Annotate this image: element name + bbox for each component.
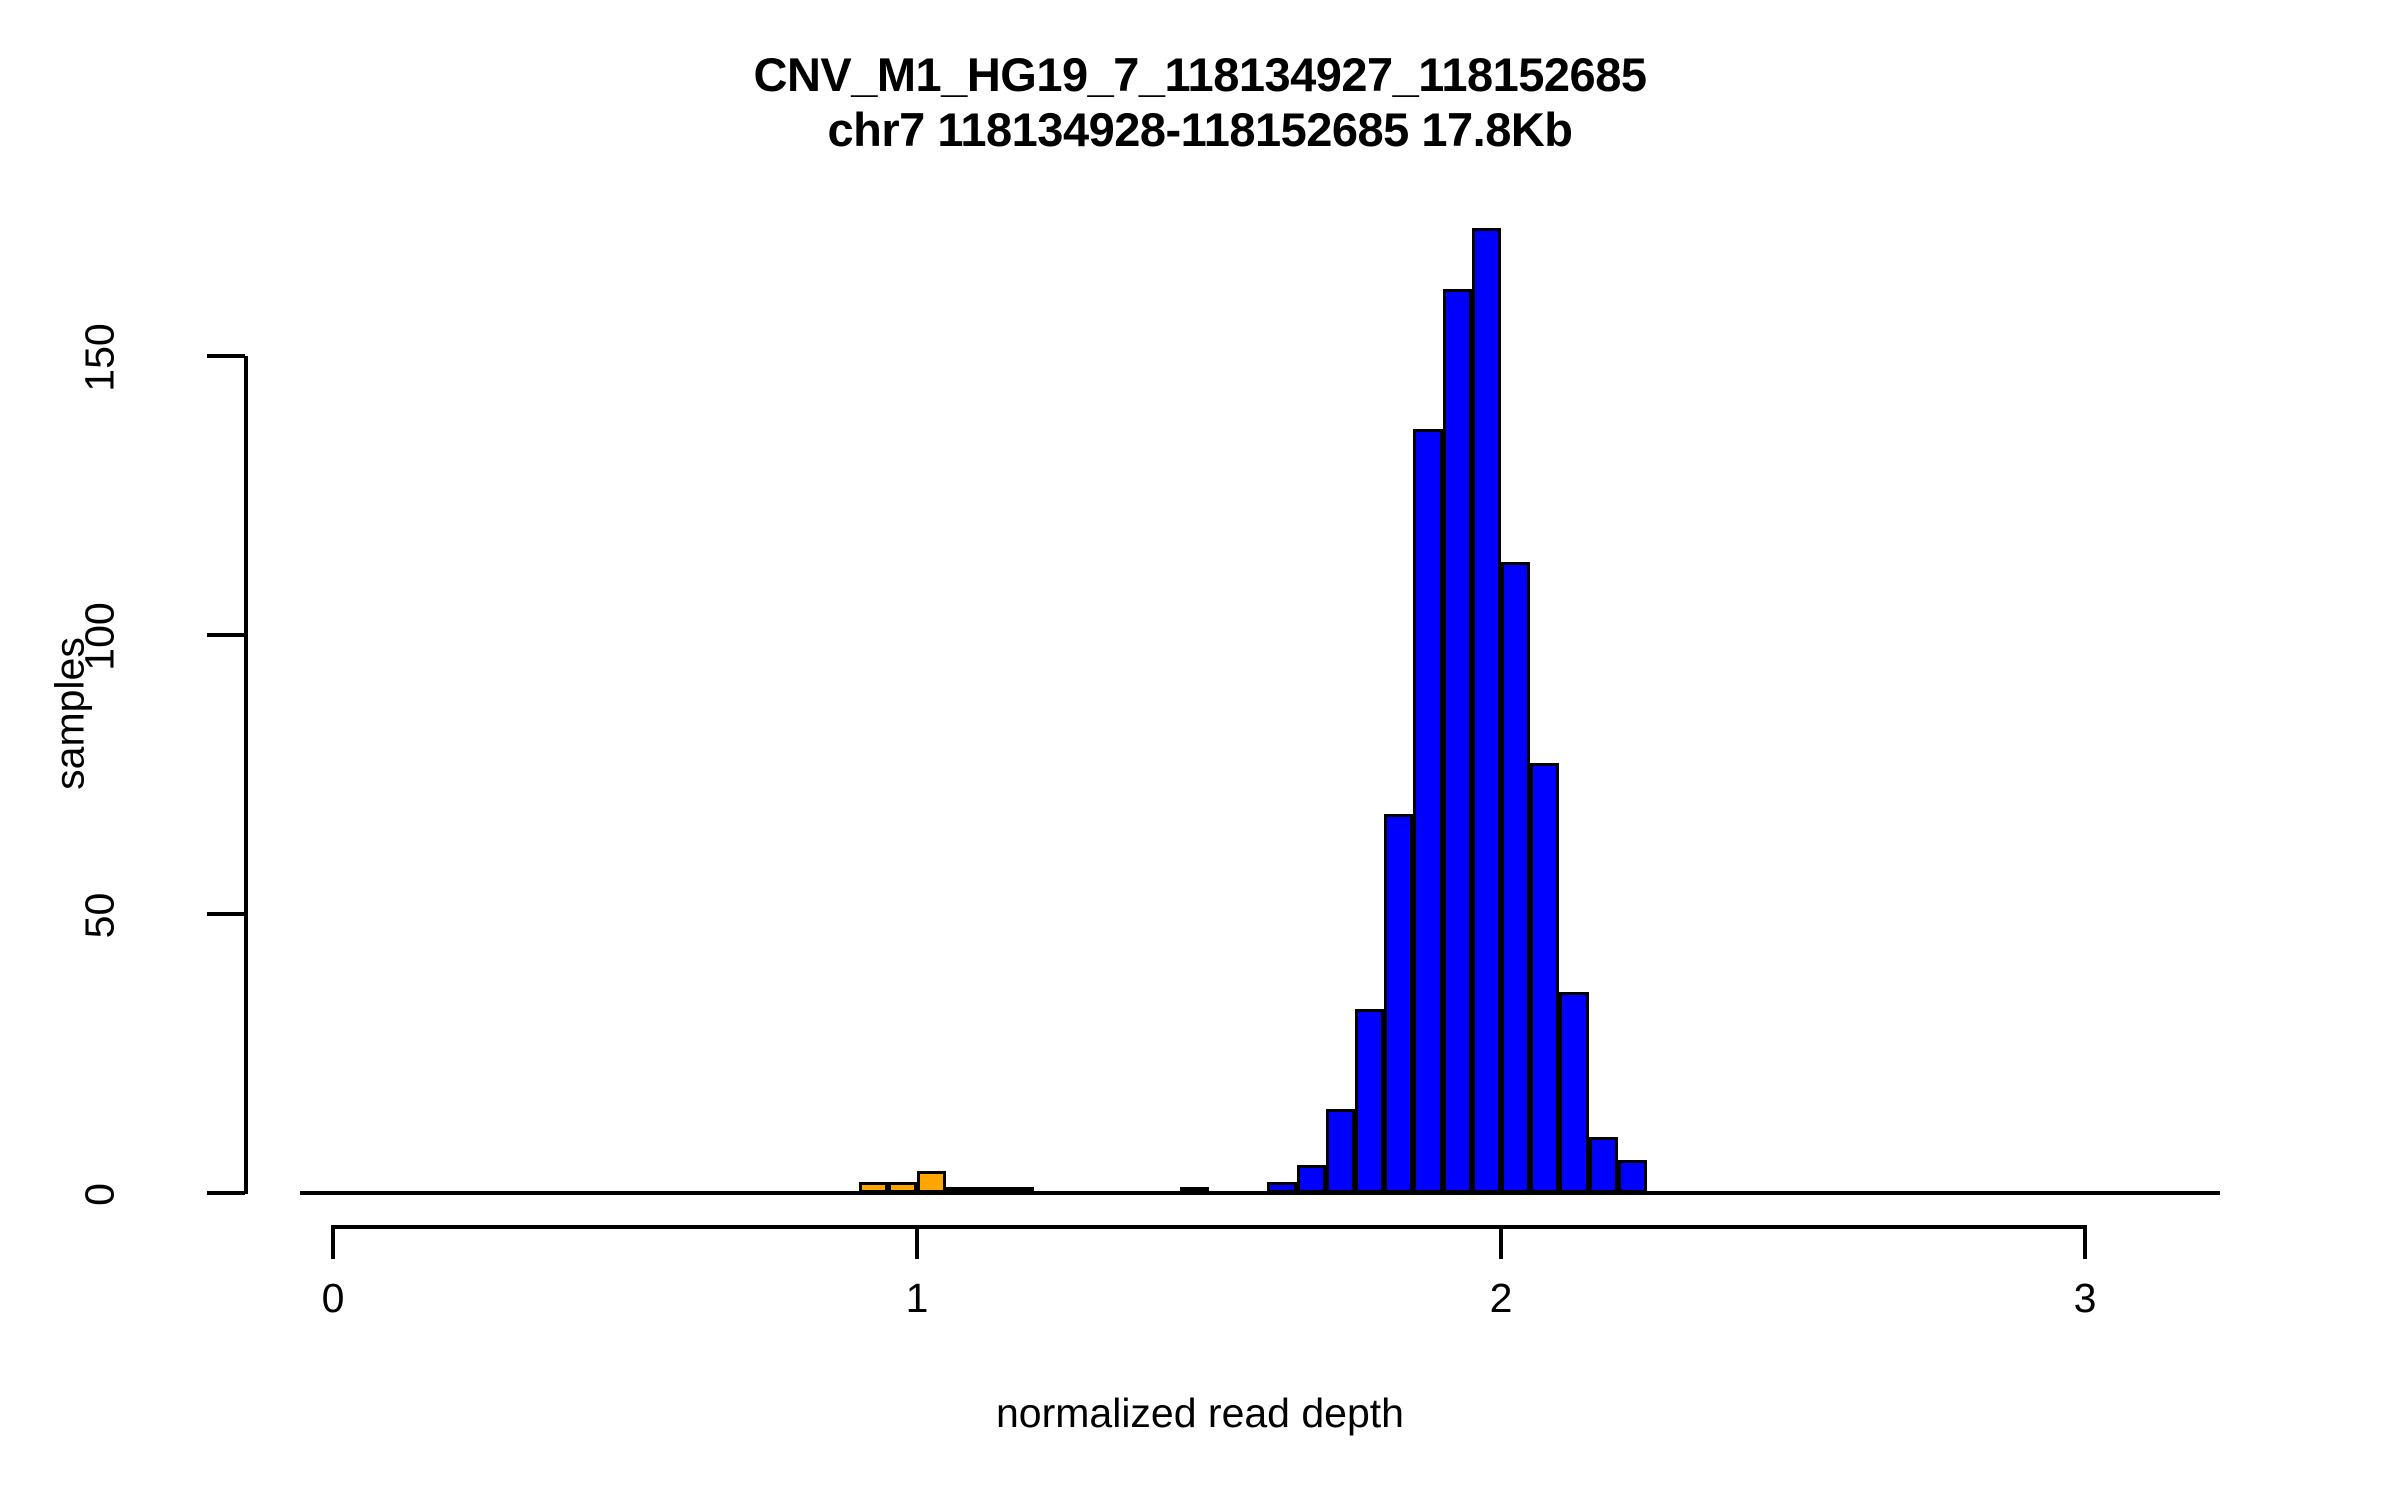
- histogram-bar: [1618, 1160, 1647, 1193]
- y-axis-tick-label: 0: [77, 1115, 124, 1275]
- x-axis-tick-label: 3: [2025, 1275, 2145, 1322]
- x-axis-tick: [915, 1225, 919, 1259]
- x-axis-label: normalized read depth: [0, 1390, 2400, 1437]
- histogram-plot: CNV_M1_HG19_7_118134927_118152685 chr7 1…: [0, 0, 2400, 1500]
- title-line-1: CNV_M1_HG19_7_118134927_118152685: [0, 48, 2400, 103]
- histogram-bar: [1530, 763, 1559, 1193]
- x-axis-tick-label: 0: [273, 1275, 393, 1322]
- histogram-bar: [1384, 814, 1413, 1193]
- histogram-bar: [917, 1171, 946, 1193]
- y-axis-tick: [207, 1191, 245, 1195]
- x-axis-tick-label: 1: [857, 1275, 977, 1322]
- y-axis-tick: [207, 912, 245, 916]
- title-line-2: chr7 118134928-118152685 17.8Kb: [0, 103, 2400, 158]
- x-axis-tick: [1499, 1225, 1503, 1259]
- histogram-bar: [1413, 429, 1442, 1193]
- histogram-bar: [1355, 1009, 1384, 1193]
- histogram-bar: [1443, 289, 1472, 1193]
- x-axis-tick: [331, 1225, 335, 1259]
- x-axis-tick: [2083, 1225, 2087, 1259]
- x-axis-tick-label: 2: [1441, 1275, 1561, 1322]
- page-title: CNV_M1_HG19_7_118134927_118152685 chr7 1…: [0, 48, 2400, 158]
- histogram-bar: [1297, 1165, 1326, 1193]
- histogram-bar: [1326, 1109, 1355, 1193]
- y-axis-tick: [207, 354, 245, 358]
- histogram-bar: [1472, 228, 1501, 1193]
- histogram-baseline: [300, 1191, 2220, 1195]
- y-axis-label: samples: [47, 414, 94, 1014]
- x-axis-line: [333, 1225, 2085, 1229]
- y-axis-tick: [207, 633, 245, 637]
- y-axis-line: [244, 356, 248, 1194]
- histogram-bar: [1589, 1137, 1618, 1193]
- histogram-bar: [1559, 992, 1588, 1193]
- histogram-bar: [1501, 562, 1530, 1193]
